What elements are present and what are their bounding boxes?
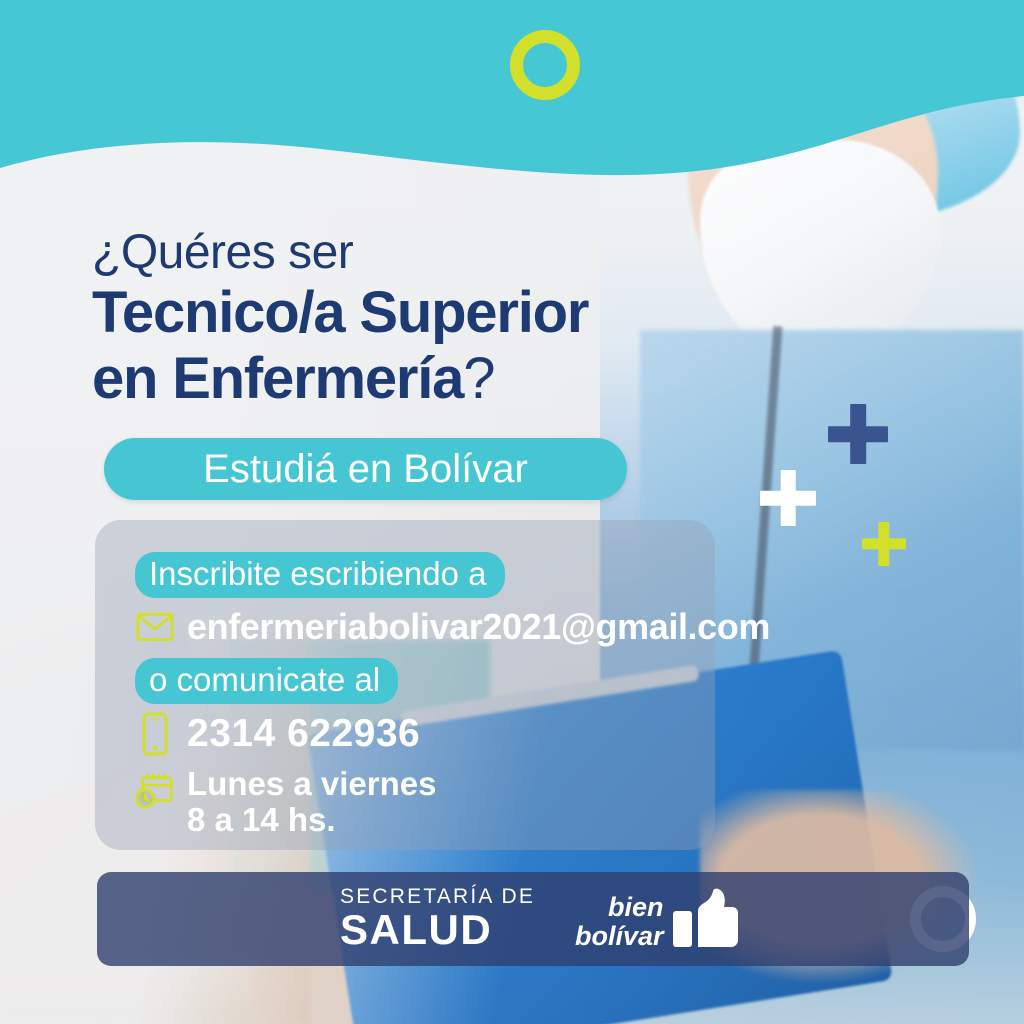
bolivar-line-1: bien (575, 893, 664, 922)
mobile-phone-icon (135, 714, 175, 754)
hours-text: Lunes a viernes 8 a 14 hs. (187, 766, 436, 837)
headline-line-2: Tecnico/a Superior (92, 283, 588, 343)
headline: ¿Quéres ser Tecnico/a Superior en Enferm… (92, 228, 588, 409)
headline-question-mark: ? (463, 346, 494, 411)
hours-line-1: Lunes a viernes (187, 765, 436, 802)
hours-row: Lunes a viernes 8 a 14 hs. (135, 766, 895, 837)
headline-line-3-text: en Enfermería (92, 346, 463, 411)
navy-plus-icon (828, 404, 888, 464)
secretaria-salud-logo: SECRETARÍA DE SALUD (340, 886, 535, 951)
footer-bar: SECRETARÍA DE SALUD bien bolívar (97, 872, 969, 966)
salud-main-line: SALUD (340, 909, 535, 951)
salud-top-line: SECRETARÍA DE (340, 886, 535, 907)
thumbs-up-icon (672, 888, 738, 955)
email-label-row: Inscribite escribiendo a (135, 552, 895, 598)
hours-line-2: 8 a 14 hs. (187, 801, 336, 838)
envelope-icon (135, 607, 175, 647)
phone-row[interactable]: 2314 622936 (135, 712, 895, 756)
lime-ring-icon (510, 30, 580, 100)
calendar-clock-icon (135, 770, 175, 810)
cta-pill[interactable]: Estudiá en Bolívar (104, 438, 627, 500)
headline-line-1: ¿Quéres ser (92, 228, 588, 277)
phone-label-row: o comunicate al (135, 658, 895, 704)
bolivar-wordmark: bien bolívar (575, 893, 664, 950)
bien-bolivar-logo: bien bolívar (575, 888, 738, 955)
headline-line-3: en Enfermería? (92, 349, 588, 409)
phone-label-pill: o comunicate al (135, 658, 398, 704)
phone-number: 2314 622936 (187, 712, 420, 756)
email-row[interactable]: enfermeriabolivar2021@gmail.com (135, 606, 895, 648)
white-plus-icon (760, 470, 816, 526)
email-label-pill: Inscribite escribiendo a (135, 552, 505, 598)
contact-details: Inscribite escribiendo a enfermeriaboliv… (135, 552, 895, 837)
poster-canvas: ¿Quéres ser Tecnico/a Superior en Enferm… (0, 0, 1024, 1024)
teal-wave-shape (0, 0, 1024, 230)
cta-label: Estudiá en Bolívar (203, 447, 528, 492)
email-address: enfermeriabolivar2021@gmail.com (187, 606, 770, 648)
bolivar-line-2: bolívar (575, 922, 664, 951)
